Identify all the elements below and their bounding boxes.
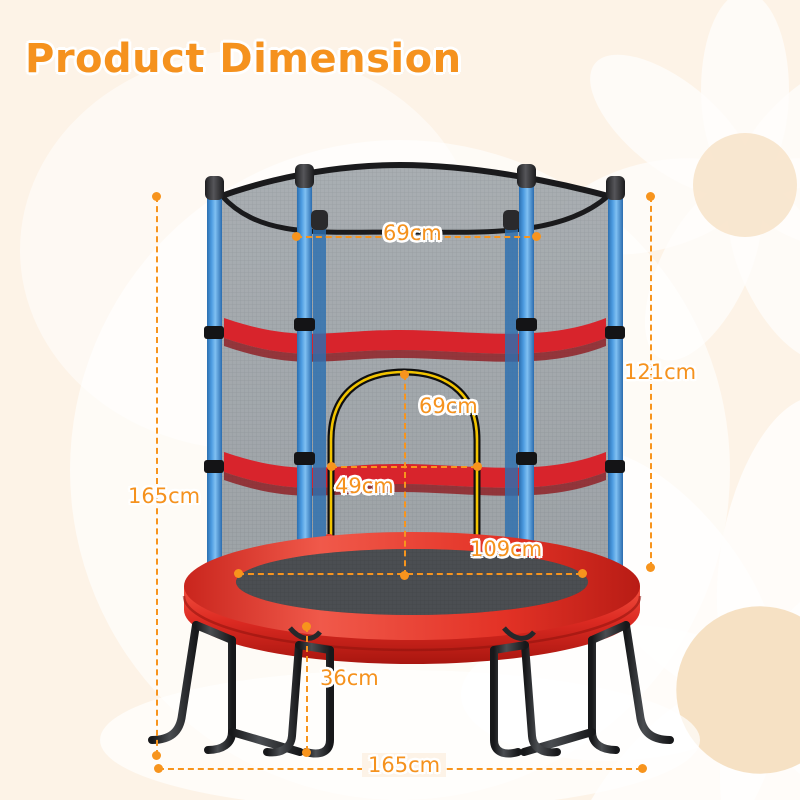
guide-dot xyxy=(154,764,163,773)
product-illustration xyxy=(0,0,800,800)
guide-dot xyxy=(152,751,161,760)
dimension-enclosure-height: 121cm xyxy=(624,360,696,384)
guide-line-door-width xyxy=(331,466,477,468)
guide-dot xyxy=(152,192,161,201)
dimension-top-opening-width: 69cm xyxy=(383,221,442,245)
guide-dot xyxy=(302,748,311,757)
product-dimension-infographic: Product Dimension xyxy=(0,0,800,800)
guide-dot xyxy=(473,462,482,471)
dimension-leg-height: 36cm xyxy=(320,666,379,690)
guide-dot xyxy=(532,232,541,241)
dimension-door-height: 69cm xyxy=(419,394,478,418)
guide-dot xyxy=(302,622,311,631)
guide-dot xyxy=(292,232,301,241)
guide-line-leg-height xyxy=(306,626,308,752)
dimension-mat-diameter: 109cm xyxy=(470,537,542,561)
dimension-door-width: 49cm xyxy=(335,474,394,498)
guide-dot xyxy=(638,764,647,773)
guide-dot xyxy=(234,569,243,578)
guide-line-door-height xyxy=(404,374,406,576)
safety-pad-ring xyxy=(184,532,640,664)
guide-dot xyxy=(646,563,655,572)
guide-line-overall-height xyxy=(156,196,158,756)
guide-dot xyxy=(578,569,587,578)
guide-line-mat-diameter xyxy=(238,573,582,575)
dimension-overall-height: 165cm xyxy=(128,484,200,508)
guide-dot xyxy=(646,192,655,201)
guide-dot xyxy=(327,462,336,471)
guide-dot xyxy=(400,370,409,379)
dimension-overall-diameter: 165cm xyxy=(362,753,446,777)
